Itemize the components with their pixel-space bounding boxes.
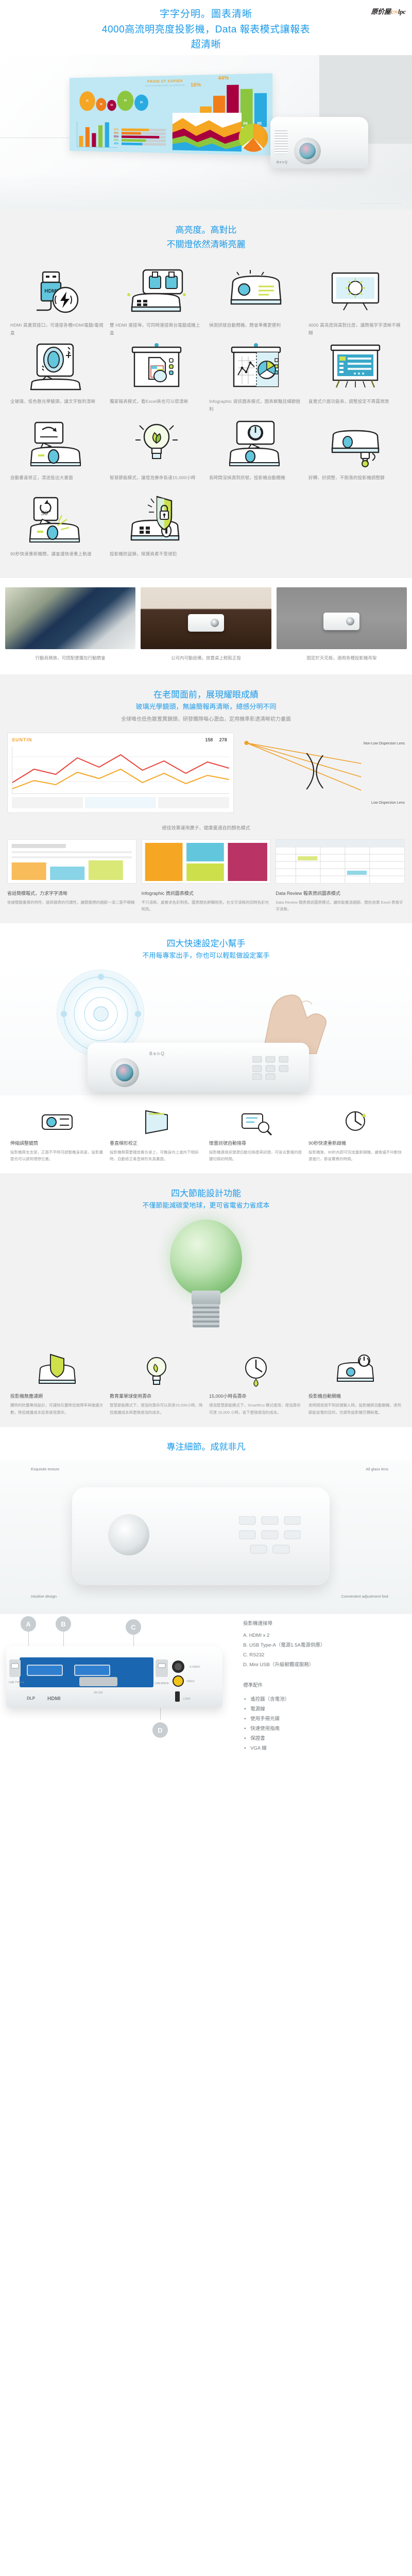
eco-title: 四大節能設計功能 xyxy=(0,1187,412,1200)
feature-cell-9: 自動垂直修正，清送投出大畫面 xyxy=(7,416,107,493)
feature-cell-12: 好轉、好調整、不脫落的投影機調整腳 xyxy=(305,416,405,493)
feature-text-6: 獨家報表模式，看Excel表也可以很清晰 xyxy=(110,396,203,416)
headline-line1: 字字分明。圖表清晰 xyxy=(0,7,412,22)
eco-feature-4-text: 長時間偵測不到訊號輸入時，投影機將自動關機，達到節能省電的目的，也避免投影機空轉… xyxy=(308,1400,402,1416)
metric-2: 278 xyxy=(219,737,227,742)
mode-card-3-text: Data Review 報表資訊圖表模式，讓你能看清細節、顏色效果 Excel … xyxy=(276,897,405,912)
data-mode-screen-icon xyxy=(110,340,203,396)
feature-cell-empty-2 xyxy=(305,493,405,569)
port-item-d: D. Mini USB（升級韌體或服務） xyxy=(243,1660,406,1670)
menu-feature-1-title: 伸縮調整鏡筒 xyxy=(10,1140,104,1147)
menu-feature-3-text: 投影機連接訊號源自動切換搜尋訊號，可省去繁複的按鍵切換的時間。 xyxy=(209,1147,302,1163)
feature-cell-10: 智慧節能模式，讓燈泡壽命長達15,000小時 xyxy=(107,416,206,493)
mode-caption-row: 省話簡模報式，力求字字清晰 依據簡報量資的特性，提高報表的可讀性，讓簡報裡的細節… xyxy=(0,886,412,923)
bright-section-heading: 高亮度。高對比 不關燈依然清晰亮麗 xyxy=(0,210,412,260)
hbar-4: 52% xyxy=(122,139,166,142)
vertical-keystone-icon xyxy=(110,1103,203,1140)
eco-feature-3-text: 燈泡智慧節能模式下，SmartEco 模式使用，燈泡壽命可達 15,000 小時… xyxy=(209,1400,302,1416)
menu-feature-2: 垂直梯形校正 投影機無需要擺放置在桌上，可機身向上或向下傾斜時，自動修正垂直梯形… xyxy=(107,1103,206,1163)
auto-off-icon xyxy=(209,416,302,472)
callout-bubble-c: C xyxy=(126,1619,141,1635)
adjust-foot-icon xyxy=(308,416,402,472)
menu-feature-1: 伸縮調整鏡筒 投影機兩支支架，正面不平時可調整機身高度，投影畫面也可以調到理想位… xyxy=(7,1103,107,1163)
mode-thumb-presentation xyxy=(7,839,136,884)
benq-wordmark: BenQ xyxy=(149,1051,165,1056)
eco-bulb-section: 投影機無塵濾網 獨特的防塵專用設計，可濾除灰塵降低故障率與維護次數，降低維護成本… xyxy=(0,1214,412,1427)
label-intuitive-design: Intuitive design xyxy=(31,1594,57,1599)
auto-power-on-icon xyxy=(209,264,302,319)
photo-caption-3: 固定於天花板，適用各種投影機吊架 xyxy=(277,649,407,662)
feature-text-9: 自動垂直修正，清送投出大畫面 xyxy=(10,472,104,493)
projector-lens-front xyxy=(110,1058,139,1087)
coolpc-logo: 原价屋c∞lpc xyxy=(371,6,406,16)
usage-photo-row: 行動商務族，可搭配便攜包行動開會 公司內可動設備，放置桌上輕鬆正投 固定於天花板… xyxy=(0,578,412,665)
oval-5: 05 xyxy=(134,95,148,111)
oval-4: 04 xyxy=(117,91,134,111)
feature-text-13: 90秒快速重新機開，讓會議快速重上軌道 xyxy=(10,548,104,569)
feature-icon-grid: HDMI HDMI 高畫質接口，可連接各種HDMI電腦/電視盒 雙 HDMI 連… xyxy=(0,261,412,578)
accessory-item-5: 保證書 xyxy=(243,1734,406,1743)
accessory-item-4: 快速使用指南 xyxy=(243,1724,406,1734)
bright-line2: 不關燈依然清晰亮麗 xyxy=(0,238,412,251)
legend-low-dispersion: Low Dispersion Lens xyxy=(371,801,405,805)
mode-card-2: Infographic 資訊圖表模式 不只清晰，處置求色彩明亮。圖表顏色鮮豔明亮… xyxy=(142,890,271,913)
benq-logo: BenQ xyxy=(277,161,288,164)
feature-text-2: 雙 HDMI 連接埠，可同時連接兩台電腦或機上盒 xyxy=(110,319,203,340)
projector-rear-panel: USB TYPE-A USB MINI-B RS-232 S-VIDEO VID… xyxy=(6,1646,222,1708)
port-item-c: C. RS232 xyxy=(243,1650,406,1660)
icon-row-3: 自動垂直修正，清送投出大畫面 智慧節能模式，讓燈泡壽命長達15,000小時 長時… xyxy=(7,416,405,493)
lens-demo-panel: SUNTIN 158 278 xyxy=(0,727,412,822)
dashboard-metrics: 158 278 xyxy=(200,737,227,742)
feature-cell-2: 雙 HDMI 連接埠，可同時連接兩台電腦或機上盒 xyxy=(107,264,206,340)
bulb-glass xyxy=(170,1219,242,1297)
projector-vent xyxy=(274,130,288,154)
menu-section-header: 四大快速設定小幫手 不用每專家出手，你也可以輕鬆做設定案手 xyxy=(0,923,412,964)
eco-bulb-art xyxy=(0,1214,412,1343)
dashboard-screenshot: SUNTIN 158 278 xyxy=(7,733,234,813)
page-header: 原价屋c∞lpc 字字分明。圖表清晰 4000高流明亮度投影機，Data 報表模… xyxy=(0,0,412,55)
projector-on-table-photo xyxy=(141,587,271,649)
callout-bubble-a: A xyxy=(21,1616,36,1632)
slide-area-chart xyxy=(173,113,242,151)
bright-line1: 高亮度。高對比 xyxy=(0,223,412,237)
menu-sub: 不用每專家出手，你也可以輕鬆做設定案手 xyxy=(0,951,412,961)
glass-lens-icon xyxy=(10,340,104,396)
menu-feature-4-text: 投影機後，90秒內即可完成重新開機，讓會議不中斷快速進行，節省寶貴的時間。 xyxy=(308,1147,402,1163)
mode-card-3-title: Data Review 報表資訊圖表模式 xyxy=(276,890,405,897)
detail-topview-art: Exquisite texture All glass lens Intuiti… xyxy=(0,1460,412,1614)
boss-sub1: 玻璃光學鏡頭，無論簡報再清晰，總感分明不同 xyxy=(0,702,412,713)
photo-item-2: 公司內可動設備，放置桌上輕鬆正投 xyxy=(141,587,271,662)
accessories-list: 遙控器（含電池） 電源線 使用手冊光碟 快速使用指南 保證書 VGA 線 xyxy=(243,1692,406,1753)
projector-topview xyxy=(72,1487,330,1585)
mode-caption: 絕佳效果運用廣子、健康畫通自的顏色模式 xyxy=(0,822,412,836)
label-all-glass-lens: All glass lens xyxy=(366,1467,388,1471)
feature-cell-3: 偵測訊號自動開機，開會準備更便利 xyxy=(206,264,305,340)
label-exquisite-texture: Exquisite texture xyxy=(31,1467,59,1471)
icon-row-1: HDMI HDMI 高畫質接口，可連接各種HDMI電腦/電視盒 雙 HDMI 連… xyxy=(7,264,405,340)
port-item-a: A. HDMI x 2 xyxy=(243,1631,406,1640)
menu-feature-4: 90秒快速重新啟機 投影機後，90秒內即可完成重新開機，讓會議不中斷快速進行，節… xyxy=(305,1103,405,1163)
oval-3: 03 xyxy=(107,100,116,111)
menu-feature-3: 懷置訊號自動搜尋 投影機連接訊號源自動切換搜尋訊號，可省去繁複的按鍵切換的時間。 xyxy=(206,1103,305,1163)
brand-cn: 原价屋 xyxy=(371,8,390,15)
menu-illustration-section: BenQ xyxy=(0,964,412,1095)
ports-spec-section: A B C D xyxy=(0,1614,412,1769)
slide-column-chart xyxy=(77,122,117,148)
eco-feature-4: 投影機自動關機 長時間偵測不到訊號輸入時，投影機將自動關機，達到節能省電的目的，… xyxy=(305,1348,405,1416)
feature-cell-6: 獨家報表模式，看Excel表也可以很清晰 xyxy=(107,340,206,416)
ports-list: A. HDMI x 2 B. USB Type-A（電源1.5A電源供應） C.… xyxy=(243,1631,406,1670)
eco-feature-2-title: 教育業單球使用壽命 xyxy=(110,1393,203,1400)
eco-feature-3: 15,000小時長壽命 燈泡智慧節能模式下，SmartEco 模式使用，燈泡壽命… xyxy=(206,1348,305,1416)
eco-feature-2: 教育業單球使用壽命 智慧節能模式下，燈泡的壽命可以高達15,000小時，降低維護… xyxy=(107,1348,206,1416)
port-item-b: B. USB Type-A（電源1.5A電源供應） xyxy=(243,1640,406,1650)
oval-1: 01 xyxy=(79,91,95,111)
feature-cell-14: 投影機防盜鎖，保護資產不受侵犯 xyxy=(107,493,206,569)
hbar-5: 43% xyxy=(122,143,166,146)
svg-text:USB MINI-B: USB MINI-B xyxy=(154,1682,169,1685)
auto-shutdown-icon xyxy=(308,1348,402,1393)
feature-text-1: HDMI 高畫質接口，可連接各種HDMI電腦/電視盒 xyxy=(10,319,104,340)
callout-bubble-d: D xyxy=(152,1722,168,1738)
menu-feature-1-text: 投影機兩支支架，正面不平時可調整機身高度，投影畫面也可以調到理想位置。 xyxy=(10,1147,104,1163)
icon-row-2: 全玻璃、低色散光學鏡頭，讓文字銳利清晰 獨家報表模式，看Excel表也可以很清晰… xyxy=(7,340,405,416)
metric-1: 158 xyxy=(205,737,213,742)
mode-card-1-title: 省話簡模報式，力求字字清晰 xyxy=(7,890,136,897)
label-convenient-foot: Convenient adjustment foot xyxy=(341,1594,388,1599)
feature-text-3: 偵測訊號自動開機，開會準備更便利 xyxy=(209,319,302,340)
mode-thumb-data-review xyxy=(276,839,405,884)
hbar-2: 39% xyxy=(122,132,166,135)
bar-label-16: 16% xyxy=(191,82,201,89)
quick-restart-icon: 90" xyxy=(10,493,104,548)
headline-line3: 超清晰 xyxy=(0,37,412,52)
photo-caption-2: 公司內可動設備，放置桌上輕鬆正投 xyxy=(141,649,271,662)
feature-text-10: 智慧節能模式，讓燈泡壽命長達15,000小時 xyxy=(110,472,203,493)
dual-hdmi-port-icon xyxy=(110,264,203,319)
feature-cell-8: 直覺式介面功能表，調整設定不再霧煞煞 xyxy=(305,340,405,416)
svg-text:HDMI: HDMI xyxy=(47,1696,61,1702)
dust-filter-icon xyxy=(10,1348,104,1393)
eco-section-header: 四大節能設計功能 不僅節能減碳愛地球，更可省電省力省成本 xyxy=(0,1173,412,1214)
quick-restart-90s-icon xyxy=(308,1103,402,1140)
accessories-title: 標準配件 xyxy=(243,1670,406,1692)
headline-line2: 4000高流明亮度投影機，Data 報表模式讓報表 xyxy=(0,22,412,37)
green-bulb-graphic xyxy=(160,1219,252,1338)
hero-reflection xyxy=(0,174,412,210)
feature-cell-13: 90" 90秒快速重新機開，讓會議快速重上軌道 xyxy=(7,493,107,569)
accessory-item-6: VGA 線 xyxy=(243,1743,406,1753)
lens-dispersion-diagram: Non-Low Dispersion Lens Low Dispersion L… xyxy=(241,733,405,813)
bar-label-44: 44% xyxy=(218,76,229,82)
callout-bubble-b: B xyxy=(56,1616,71,1632)
bulb-screw-base xyxy=(193,1304,219,1328)
menu-feature-2-title: 垂直梯形校正 xyxy=(110,1140,203,1147)
feature-text-4: 4000 高亮度與高對比度，讓簡報字字清晰不模糊 xyxy=(308,319,402,340)
slide-pie-chart xyxy=(239,124,268,152)
ports-photo: A B C D xyxy=(6,1616,238,1740)
15000-hours-icon xyxy=(209,1348,302,1393)
boss-title: 在老闆面前，展現耀眼成績 xyxy=(0,688,412,702)
eco-sub: 不僅節能減碳愛地球，更可省電省力省成本 xyxy=(0,1200,412,1211)
svg-text:USB TYPE-A: USB TYPE-A xyxy=(9,1681,24,1684)
bar3d-4: 04 xyxy=(241,89,253,127)
svg-text:90": 90" xyxy=(41,509,50,517)
lens-demo-row: SUNTIN 158 278 xyxy=(7,733,405,813)
mode-card-1: 省話簡模報式，力求字字清晰 依據簡報量資的特性，提高報表的可讀性，讓簡報裡的細節… xyxy=(7,890,136,913)
dashboard-line-chart xyxy=(12,747,229,794)
svg-text:DLP: DLP xyxy=(27,1696,36,1701)
brand-en: lpc xyxy=(398,8,406,15)
mode-thumb-infographic xyxy=(142,839,271,884)
eco-feature-2-text: 智慧節能模式下，燈泡的壽命可以高達15,000小時，降低維護成本與更換燈泡的成本… xyxy=(110,1400,203,1416)
menu-feature-row: 伸縮調整鏡筒 投影機兩支支架，正面不平時可調整機身高度，投影畫面也可以調到理想位… xyxy=(0,1095,412,1173)
ceiling-mount-photo xyxy=(277,587,407,649)
accessory-item-3: 使用手冊光碟 xyxy=(243,1714,406,1724)
slide-hbar-chart: 67% 39% 91% 52% 43% xyxy=(122,129,166,147)
icon-row-4: 90" 90秒快速重新機開，讓會議快速重上軌道 投影機防盜鎖，保護資產不受侵犯 xyxy=(7,493,405,569)
feature-text-7: Infographic 資訊圖表模式，圖表鮮豔且細節銳利 xyxy=(209,396,302,416)
auto-search-signal-icon xyxy=(209,1103,302,1140)
feature-cell-1: HDMI HDMI 高畫質接口，可連接各種HDMI電腦/電視盒 xyxy=(7,264,107,340)
feature-cell-11: 長時間沒偵測到訊號，投影機自動關機 xyxy=(206,416,305,493)
photo-item-1: 行動商務族，可搭配便攜包行動開會 xyxy=(5,587,135,662)
svg-text:VIDEO: VIDEO xyxy=(186,1680,195,1683)
svg-text:LOCK: LOCK xyxy=(183,1698,191,1701)
eco-lamp-icon xyxy=(110,416,203,472)
mode-thumb-row xyxy=(0,836,412,886)
feature-text-11: 長時間沒偵測到訊號，投影機自動關機 xyxy=(209,472,302,493)
zoom-ring-icon xyxy=(10,1103,104,1140)
boss-sub2: 全球唯也低色散置異鏡頭，研發團隊嘔心瀝血，定用機準影透清晰初力畫面 xyxy=(0,713,412,724)
hbar-1: 67% xyxy=(122,129,166,132)
feature-cell-empty-1 xyxy=(206,493,305,569)
oval-2: 02 xyxy=(96,98,106,111)
menu-feature-2-text: 投影機無需要擺放置在桌上，可機身向上或向下傾斜時，自動修正垂直梯形失真畫面。 xyxy=(110,1147,203,1163)
eco-feature-1: 投影機無塵濾網 獨特的防塵專用設計，可濾除灰塵降低故障率與維護次數，降低維護成本… xyxy=(7,1348,107,1416)
menu-hand-art: BenQ xyxy=(0,967,412,1095)
boss-section-header: 在老闆面前，展現耀眼成績 玻璃光學鏡頭，無論簡報再清晰，總感分明不同 全球唯也低… xyxy=(0,674,412,727)
projected-slide: PROIN UT SAPIEN Dis nisi scelerisque lec… xyxy=(70,73,272,156)
ports-title: 投影機連接埠 xyxy=(243,1616,406,1631)
eco-feature-1-text: 獨特的防塵專用設計，可濾除灰塵降低故障率與維護次數，降低維護成本延長使用壽命。 xyxy=(10,1400,104,1416)
feature-text-8: 直覺式介面功能表，調整設定不再霧煞煞 xyxy=(308,396,402,416)
feature-text-14: 投影機防盜鎖，保護資產不受侵犯 xyxy=(110,548,203,569)
lamp-life-icon xyxy=(110,1348,203,1393)
topview-keypad xyxy=(239,1516,301,1554)
mode-card-2-text: 不只清晰，處置求色彩明亮。圖表顏色鮮豔明亮，在文字清晰的同時色彩也明亮。 xyxy=(142,897,271,912)
legend-non-low-dispersion: Non-Low Dispersion Lens xyxy=(364,742,405,745)
projector-lens xyxy=(294,138,321,164)
spec-column: 投影機連接埠 A. HDMI x 2 B. USB Type-A（電源1.5A電… xyxy=(238,1616,406,1753)
product-landing-page: 原价屋c∞lpc 字字分明。圖表清晰 4000高流明亮度投影機，Data 報表模… xyxy=(0,0,412,1769)
hero-image: PROIN UT SAPIEN Dis nisi scelerisque lec… xyxy=(0,55,412,210)
photo-caption-1: 行動商務族，可搭配便攜包行動開會 xyxy=(5,649,135,662)
bar3d-5: 05 xyxy=(254,93,267,127)
svg-text:S-VIDEO: S-VIDEO xyxy=(190,1666,200,1669)
bulb-neck xyxy=(192,1291,220,1305)
photo-item-3: 固定於天花板，適用各種投影機吊架 xyxy=(277,587,407,662)
hero-projector: BenQ xyxy=(270,117,368,168)
feature-text-12: 好轉、好調整、不脫落的投影機調整腳 xyxy=(308,472,402,493)
keystone-icon xyxy=(10,416,104,472)
feature-cell-7: Infographic 資訊圖表模式，圖表鮮豔且細節銳利 xyxy=(206,340,305,416)
hbar-3: 91% xyxy=(122,135,166,139)
hdmi-cable-icon: HDMI xyxy=(10,264,104,319)
eco-feature-1-title: 投影機無塵濾網 xyxy=(10,1393,104,1400)
infographic-screen-icon xyxy=(209,340,302,396)
menu-title: 四大快速設定小幫手 xyxy=(0,937,412,951)
lens-ring-topview xyxy=(108,1514,149,1555)
eco-feature-3-title: 15,000小時長壽命 xyxy=(209,1393,302,1400)
mode-card-1-text: 依據簡報量資的特性，提高報表的可讀性，讓簡報裡的細節一清二楚不模糊 xyxy=(7,897,136,906)
dashboard-title: SUNTIN xyxy=(12,737,229,742)
security-lock-icon xyxy=(110,493,203,548)
eco-feature-row: 投影機無塵濾網 獨特的防塵專用設計，可濾除灰塵降低故障率與維護次數，降低維護成本… xyxy=(0,1343,412,1427)
detail-section-title: 專注細節。成就非凡 xyxy=(0,1427,412,1460)
menu-feature-3-title: 懷置訊號自動搜尋 xyxy=(209,1140,302,1147)
menu-feature-4-title: 90秒快速重新啟機 xyxy=(308,1140,402,1147)
menu-ui-screen-icon xyxy=(308,340,402,396)
accessory-item-2: 電源線 xyxy=(243,1704,406,1714)
projector-front-illustration: BenQ xyxy=(88,1043,309,1092)
accessory-item-1: 遙控器（含電池） xyxy=(243,1694,406,1704)
eco-feature-4-title: 投影機自動關機 xyxy=(308,1393,402,1400)
feature-cell-4: 4000 高亮度與高對比度，讓簡報字字清晰不模糊 xyxy=(305,264,405,340)
mode-card-3: Data Review 報表資訊圖表模式 Data Review 報表資訊圖表模… xyxy=(276,890,405,913)
feature-cell-5: 全玻璃、低色散光學鏡頭，讓文字銳利清晰 xyxy=(7,340,107,416)
control-keypad xyxy=(252,1056,288,1080)
mode-card-2-title: Infographic 資訊圖表模式 xyxy=(142,890,271,897)
feature-text-5: 全玻璃、低色散光學鏡頭，讓文字銳利清晰 xyxy=(10,396,104,416)
man-carrying-projector-photo xyxy=(5,587,135,649)
brightness-screen-icon xyxy=(308,264,402,319)
svg-text:RS-232: RS-232 xyxy=(94,1691,103,1694)
